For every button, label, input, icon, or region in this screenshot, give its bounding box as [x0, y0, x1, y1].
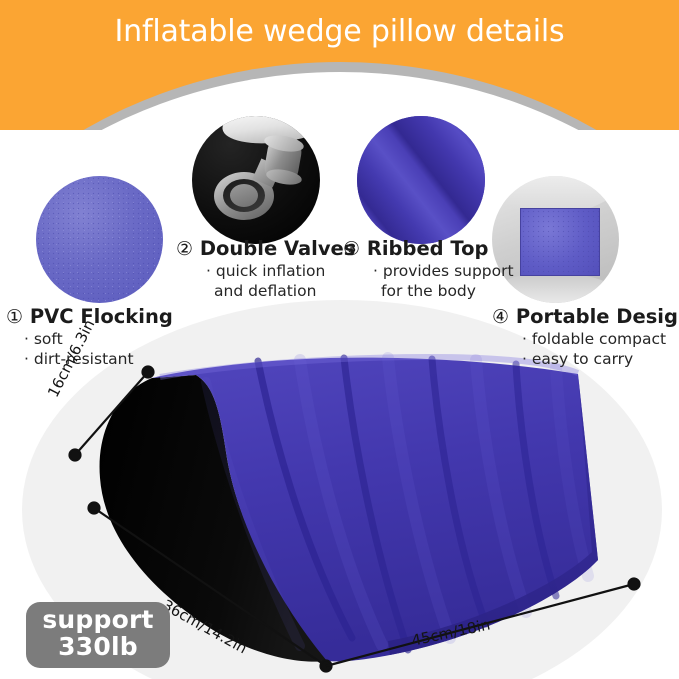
feature-bullet: · dirt-resistant: [6, 349, 173, 369]
support-badge-line1: support: [26, 607, 170, 634]
feature-number-3: ③: [343, 238, 360, 260]
feature-double-valves: ② Double Valves · quick inflation and de…: [176, 238, 355, 302]
feature-title-text: Portable Design: [516, 305, 679, 328]
feature-ribbed-top: ③ Ribbed Top · provides support for the …: [343, 238, 514, 302]
feature-title-row: ④ Portable Design: [492, 306, 679, 329]
support-badge-line2: 330lb: [26, 634, 170, 661]
feature-title-text: Double Valves: [200, 237, 356, 260]
feature-title-row: ② Double Valves: [176, 238, 355, 261]
feature-number-1: ①: [6, 306, 23, 328]
feature-bullet: · quick inflation: [176, 261, 355, 281]
support-weight-badge: support 330lb: [26, 602, 170, 668]
feature-portable-design: ④ Portable Design · foldable compact · e…: [492, 306, 679, 370]
feature-bullet: · foldable compact: [492, 329, 679, 349]
feature-bullet: for the body: [343, 281, 514, 301]
feature-bullet: · easy to carry: [492, 349, 679, 369]
dimension-endpoint: [70, 450, 81, 461]
product-infographic: Inflatable wedge pillow details: [0, 0, 679, 679]
feature-title-row: ③ Ribbed Top: [343, 238, 514, 261]
dimension-endpoint: [629, 579, 640, 590]
feature-title-text: Ribbed Top: [367, 237, 489, 260]
feature-bullet: · provides support: [343, 261, 514, 281]
feature-number-2: ②: [176, 238, 193, 260]
feature-title-text: PVC Flocking: [30, 305, 173, 328]
feature-number-4: ④: [492, 306, 509, 328]
feature-bullet: and deflation: [176, 281, 355, 301]
dimension-endpoint: [89, 503, 100, 514]
